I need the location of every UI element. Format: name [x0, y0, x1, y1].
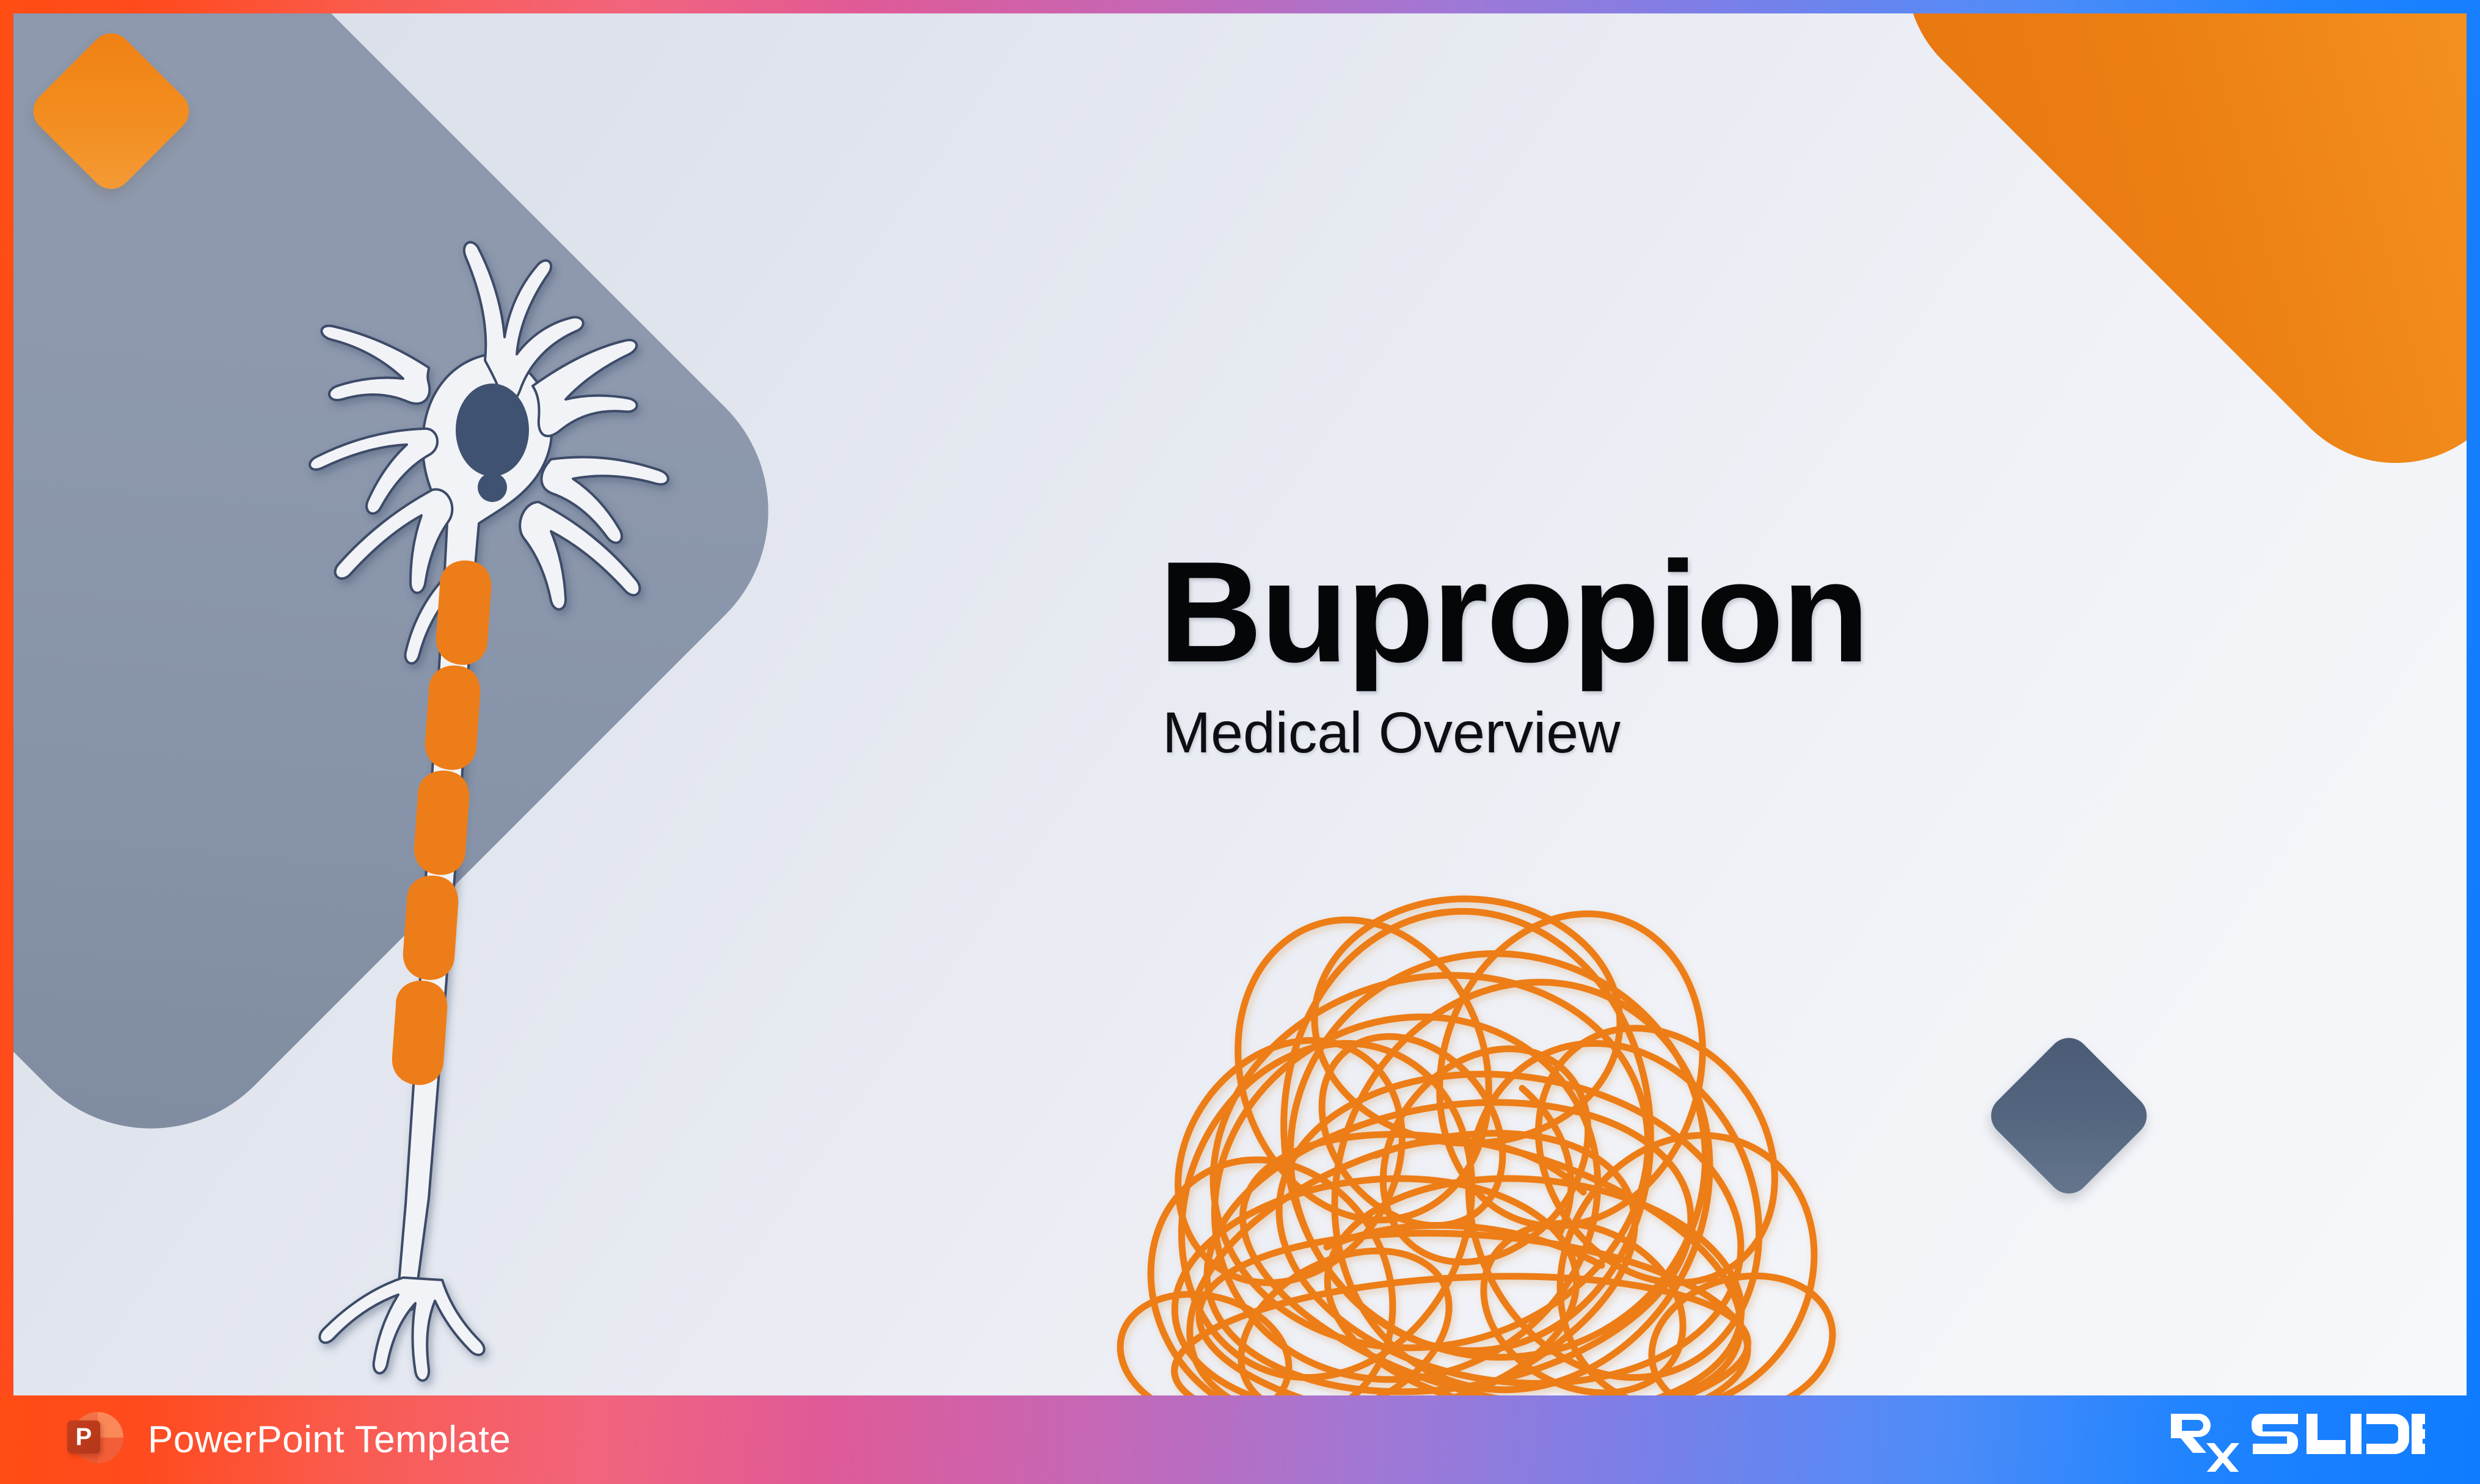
rx-slides-logo-mark — [2168, 1408, 2425, 1472]
page-subtitle: Medical Overview — [1162, 700, 2258, 766]
rx-slides-logo[interactable] — [2168, 1408, 2425, 1472]
footer-bar: P PowerPoint Template — [0, 1395, 2480, 1484]
slate-small-diamond-shape — [1983, 1030, 2156, 1202]
title-block: Bupropion Medical Overview — [1159, 539, 2258, 766]
orange-corner-diamond-shape — [1856, 13, 2467, 514]
footer-left-group: P PowerPoint Template — [67, 1412, 511, 1468]
orange-scribble-doodle — [985, 868, 1993, 1395]
footer-label: PowerPoint Template — [148, 1418, 511, 1461]
powerpoint-icon: P — [67, 1412, 123, 1468]
page-title: Bupropion — [1159, 539, 2258, 685]
slide-canvas: Bupropion Medical Overview — [13, 13, 2467, 1395]
slide-gradient-border: Bupropion Medical Overview P PowerPoint … — [0, 0, 2480, 1484]
powerpoint-icon-tile: P — [67, 1420, 100, 1453]
neuron-illustration — [246, 215, 746, 1394]
powerpoint-icon-letter: P — [76, 1425, 92, 1449]
